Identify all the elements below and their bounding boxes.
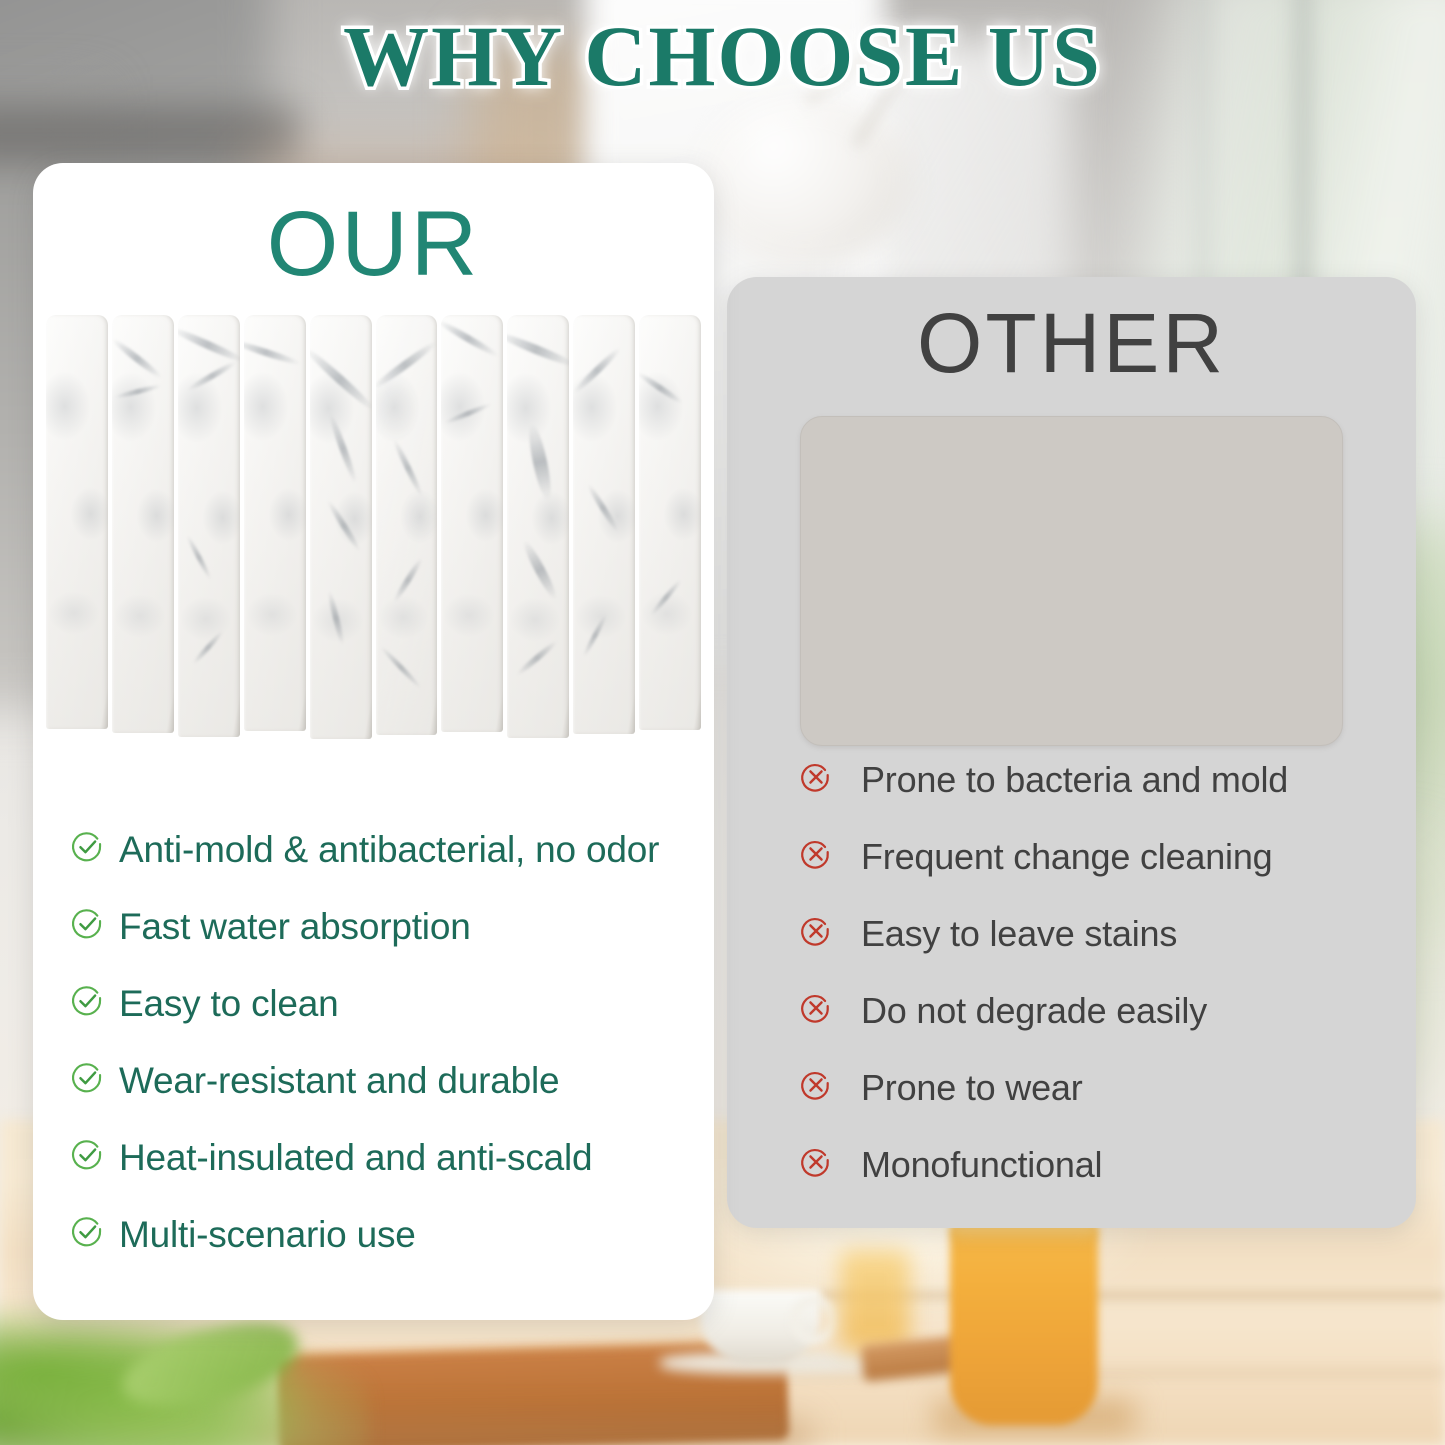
stone-strip: [573, 315, 635, 734]
list-item: Do not degrade easily: [799, 972, 1399, 1049]
list-item-label: Easy to leave stains: [861, 913, 1177, 955]
our-card: OUR: [33, 163, 714, 1320]
background-juice-glass: [950, 1220, 1098, 1425]
list-item-label: Multi-scenario use: [119, 1214, 416, 1256]
list-item: Multi-scenario use: [69, 1196, 689, 1273]
list-item: Easy to leave stains: [799, 895, 1399, 972]
check-circle-icon: [69, 983, 105, 1024]
list-item: Heat-insulated and anti-scald: [69, 1119, 689, 1196]
list-item-label: Wear-resistant and durable: [119, 1060, 559, 1102]
list-item: Prone to wear: [799, 1049, 1399, 1126]
check-circle-icon: [69, 1137, 105, 1178]
our-heading: OUR: [33, 198, 714, 290]
list-item-label: Prone to bacteria and mold: [861, 759, 1288, 801]
stone-strip: [376, 315, 438, 735]
list-item-label: Monofunctional: [861, 1144, 1102, 1186]
our-feature-list: Anti-mold & antibacterial, no odor Fast …: [69, 811, 689, 1273]
list-item: Anti-mold & antibacterial, no odor: [69, 811, 689, 888]
stone-strip: [310, 315, 372, 739]
background-teacup-handle: [790, 1296, 838, 1344]
page-title: WHY CHOOSE US: [0, 6, 1445, 106]
list-item: Monofunctional: [799, 1126, 1399, 1203]
list-item-label: Anti-mold & antibacterial, no odor: [119, 829, 659, 871]
list-item-label: Prone to wear: [861, 1067, 1083, 1109]
check-circle-icon: [69, 1060, 105, 1101]
list-item-label: Fast water absorption: [119, 906, 471, 948]
check-circle-icon: [69, 829, 105, 870]
stone-strip: [112, 315, 174, 733]
check-circle-icon: [69, 906, 105, 947]
background-counter-seam: [820, 1292, 1445, 1299]
list-item: Prone to bacteria and mold: [799, 741, 1399, 818]
list-item-label: Heat-insulated and anti-scald: [119, 1137, 592, 1179]
stone-strip: [441, 315, 503, 732]
cross-circle-icon: [799, 760, 833, 799]
cross-circle-icon: [799, 914, 833, 953]
stone-strip: [639, 315, 701, 730]
list-item-label: Do not degrade easily: [861, 990, 1207, 1032]
cross-circle-icon: [799, 991, 833, 1030]
product-image-stone-strips: [46, 315, 701, 745]
other-card: OTHER Prone to bacteria and mold: [727, 277, 1416, 1228]
background-bowl: [700, 95, 910, 265]
stone-strip: [178, 315, 240, 737]
stone-strip: [244, 315, 306, 731]
infographic-canvas: WHY CHOOSE US OTHER Prone to bacteria an…: [0, 0, 1445, 1445]
list-item: Frequent change cleaning: [799, 818, 1399, 895]
list-item: Easy to clean: [69, 965, 689, 1042]
other-image-placeholder: [800, 416, 1343, 746]
list-item-label: Easy to clean: [119, 983, 339, 1025]
list-item: Wear-resistant and durable: [69, 1042, 689, 1119]
list-item-label: Frequent change cleaning: [861, 836, 1273, 878]
other-drawback-list: Prone to bacteria and mold Frequent chan…: [799, 741, 1399, 1203]
stone-strip: [46, 315, 108, 729]
cross-circle-icon: [799, 837, 833, 876]
other-heading: OTHER: [727, 301, 1416, 385]
cross-circle-icon: [799, 1145, 833, 1184]
background-juice-second: [840, 1250, 910, 1350]
cross-circle-icon: [799, 1068, 833, 1107]
check-circle-icon: [69, 1214, 105, 1255]
stone-strip: [507, 315, 569, 738]
list-item: Fast water absorption: [69, 888, 689, 965]
